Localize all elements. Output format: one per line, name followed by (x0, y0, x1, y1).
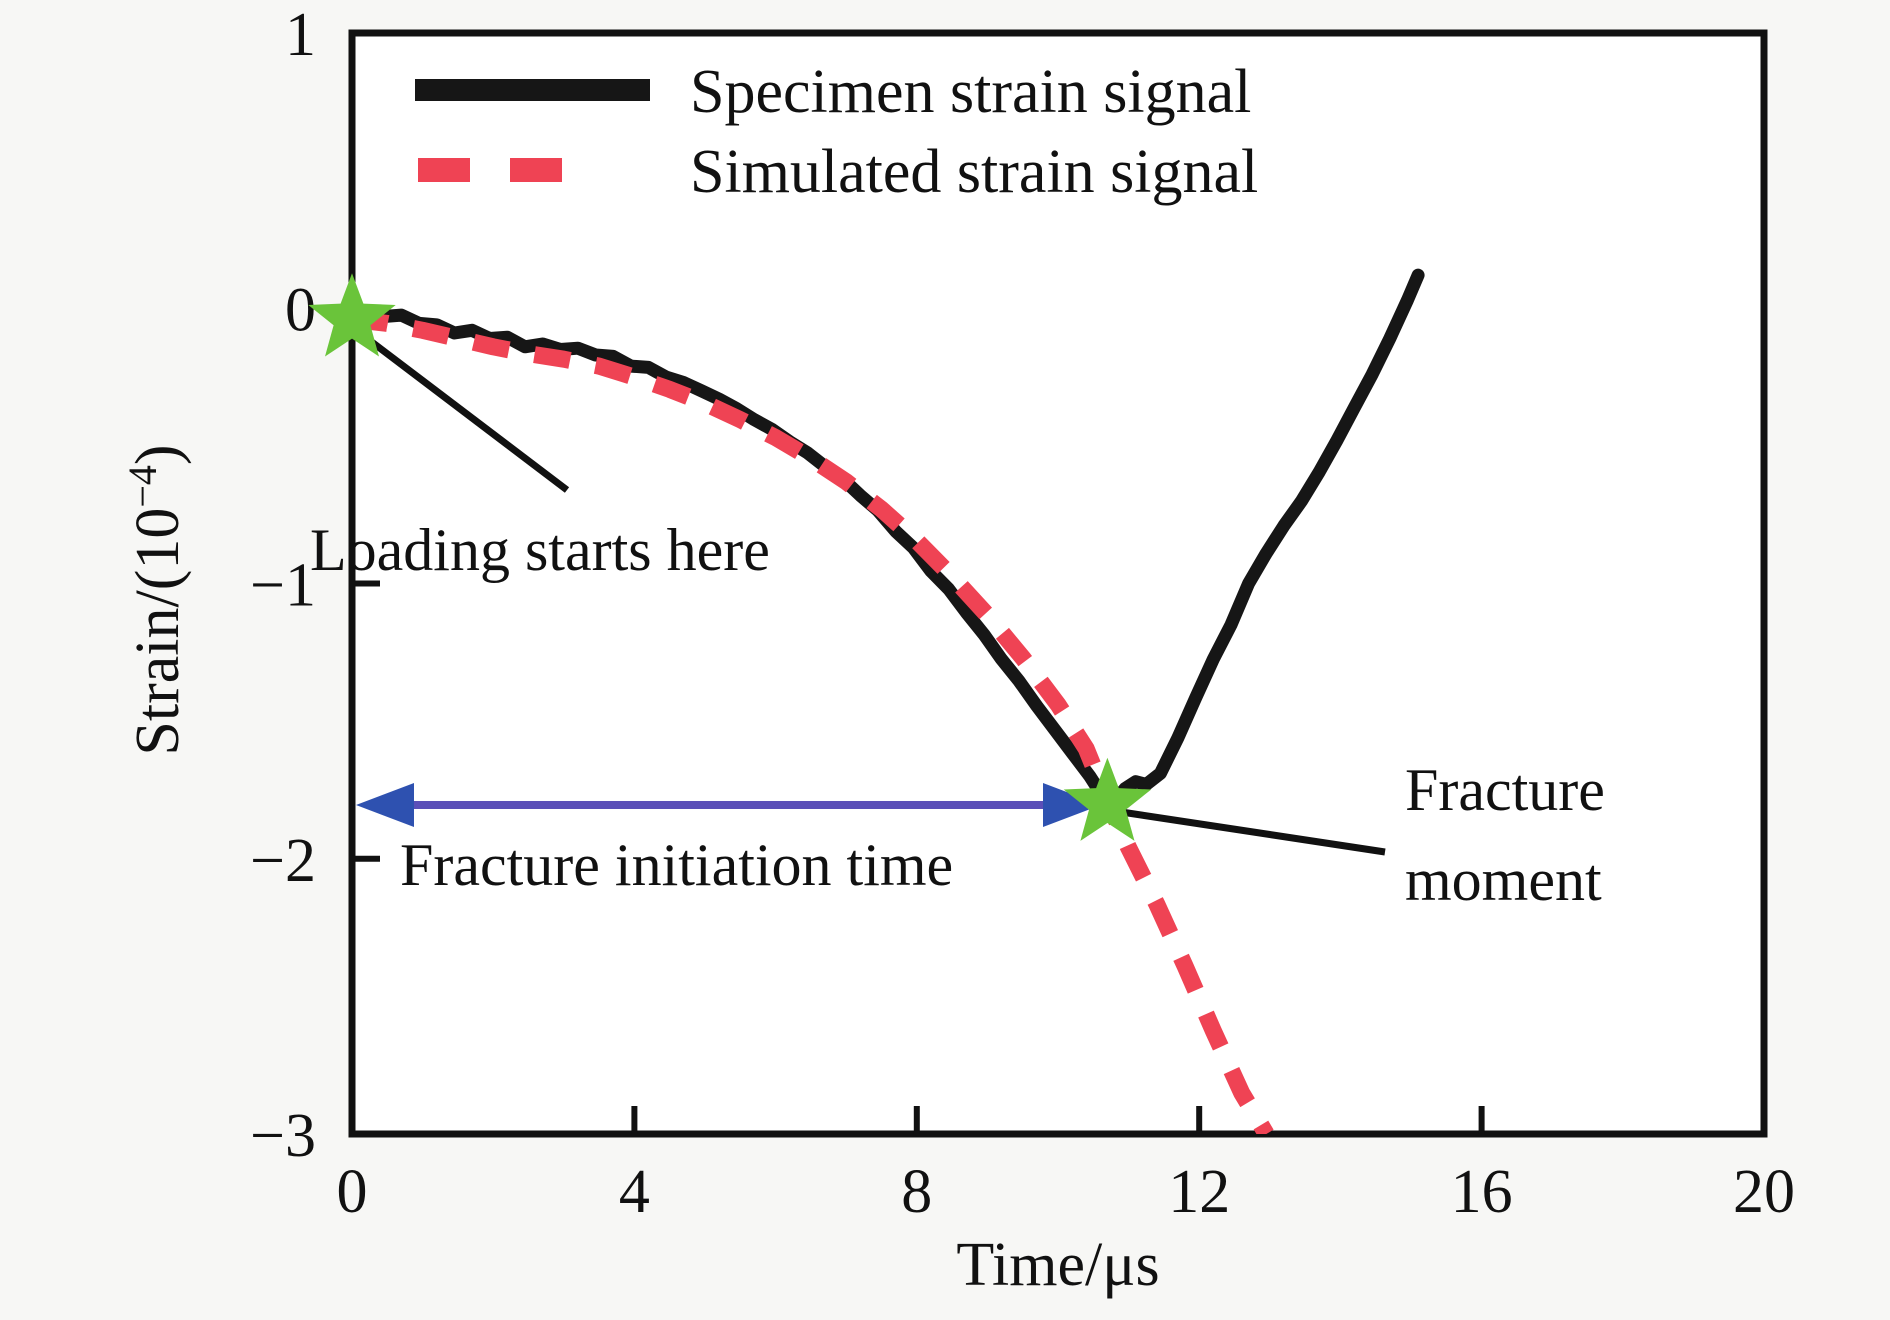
y-tick-label-0: 1 (285, 1, 316, 69)
x-tick-label-1: 4 (619, 1158, 650, 1226)
figure-root: 10−1−2−3 048121620 Specimen strain signa… (0, 0, 1890, 1320)
y-axis-tick-labels: 10−1−2−3 (250, 1, 316, 1170)
y-tick-label-1: 0 (285, 276, 316, 344)
y-axis-title-close: ) (124, 444, 192, 465)
x-tick-label-0: 0 (337, 1158, 368, 1226)
strain-signal-chart: 10−1−2−3 048121620 Specimen strain signa… (0, 0, 1890, 1320)
legend-label-simulated: Simulated strain signal (690, 138, 1258, 206)
annotation-loading-starts-here: Loading starts here (310, 517, 770, 583)
legend-label-specimen: Specimen strain signal (690, 58, 1251, 126)
x-axis-title: Time/μs (956, 1231, 1159, 1299)
y-axis-title-base: Strain/(10 (124, 508, 192, 756)
svg-text:Strain/(10−4): Strain/(10−4) (120, 444, 192, 755)
annotation-fracture-moment-line1: Fracture (1405, 757, 1605, 823)
annotation-fracture-moment-line2: moment (1405, 847, 1602, 913)
y-axis-title: Strain/(10−4) (120, 444, 192, 755)
y-tick-label-2: −1 (250, 552, 316, 620)
y-axis-title-exponent: −4 (120, 465, 165, 508)
y-tick-label-3: −2 (250, 827, 316, 895)
x-tick-label-5: 20 (1733, 1158, 1795, 1226)
x-tick-label-2: 8 (901, 1158, 932, 1226)
x-tick-label-4: 16 (1451, 1158, 1513, 1226)
x-tick-label-3: 12 (1168, 1158, 1230, 1226)
y-tick-label-4: −3 (250, 1102, 316, 1170)
x-axis-tick-labels: 048121620 (337, 1158, 1796, 1226)
annotation-fracture-initiation-time: Fracture initiation time (400, 832, 953, 898)
